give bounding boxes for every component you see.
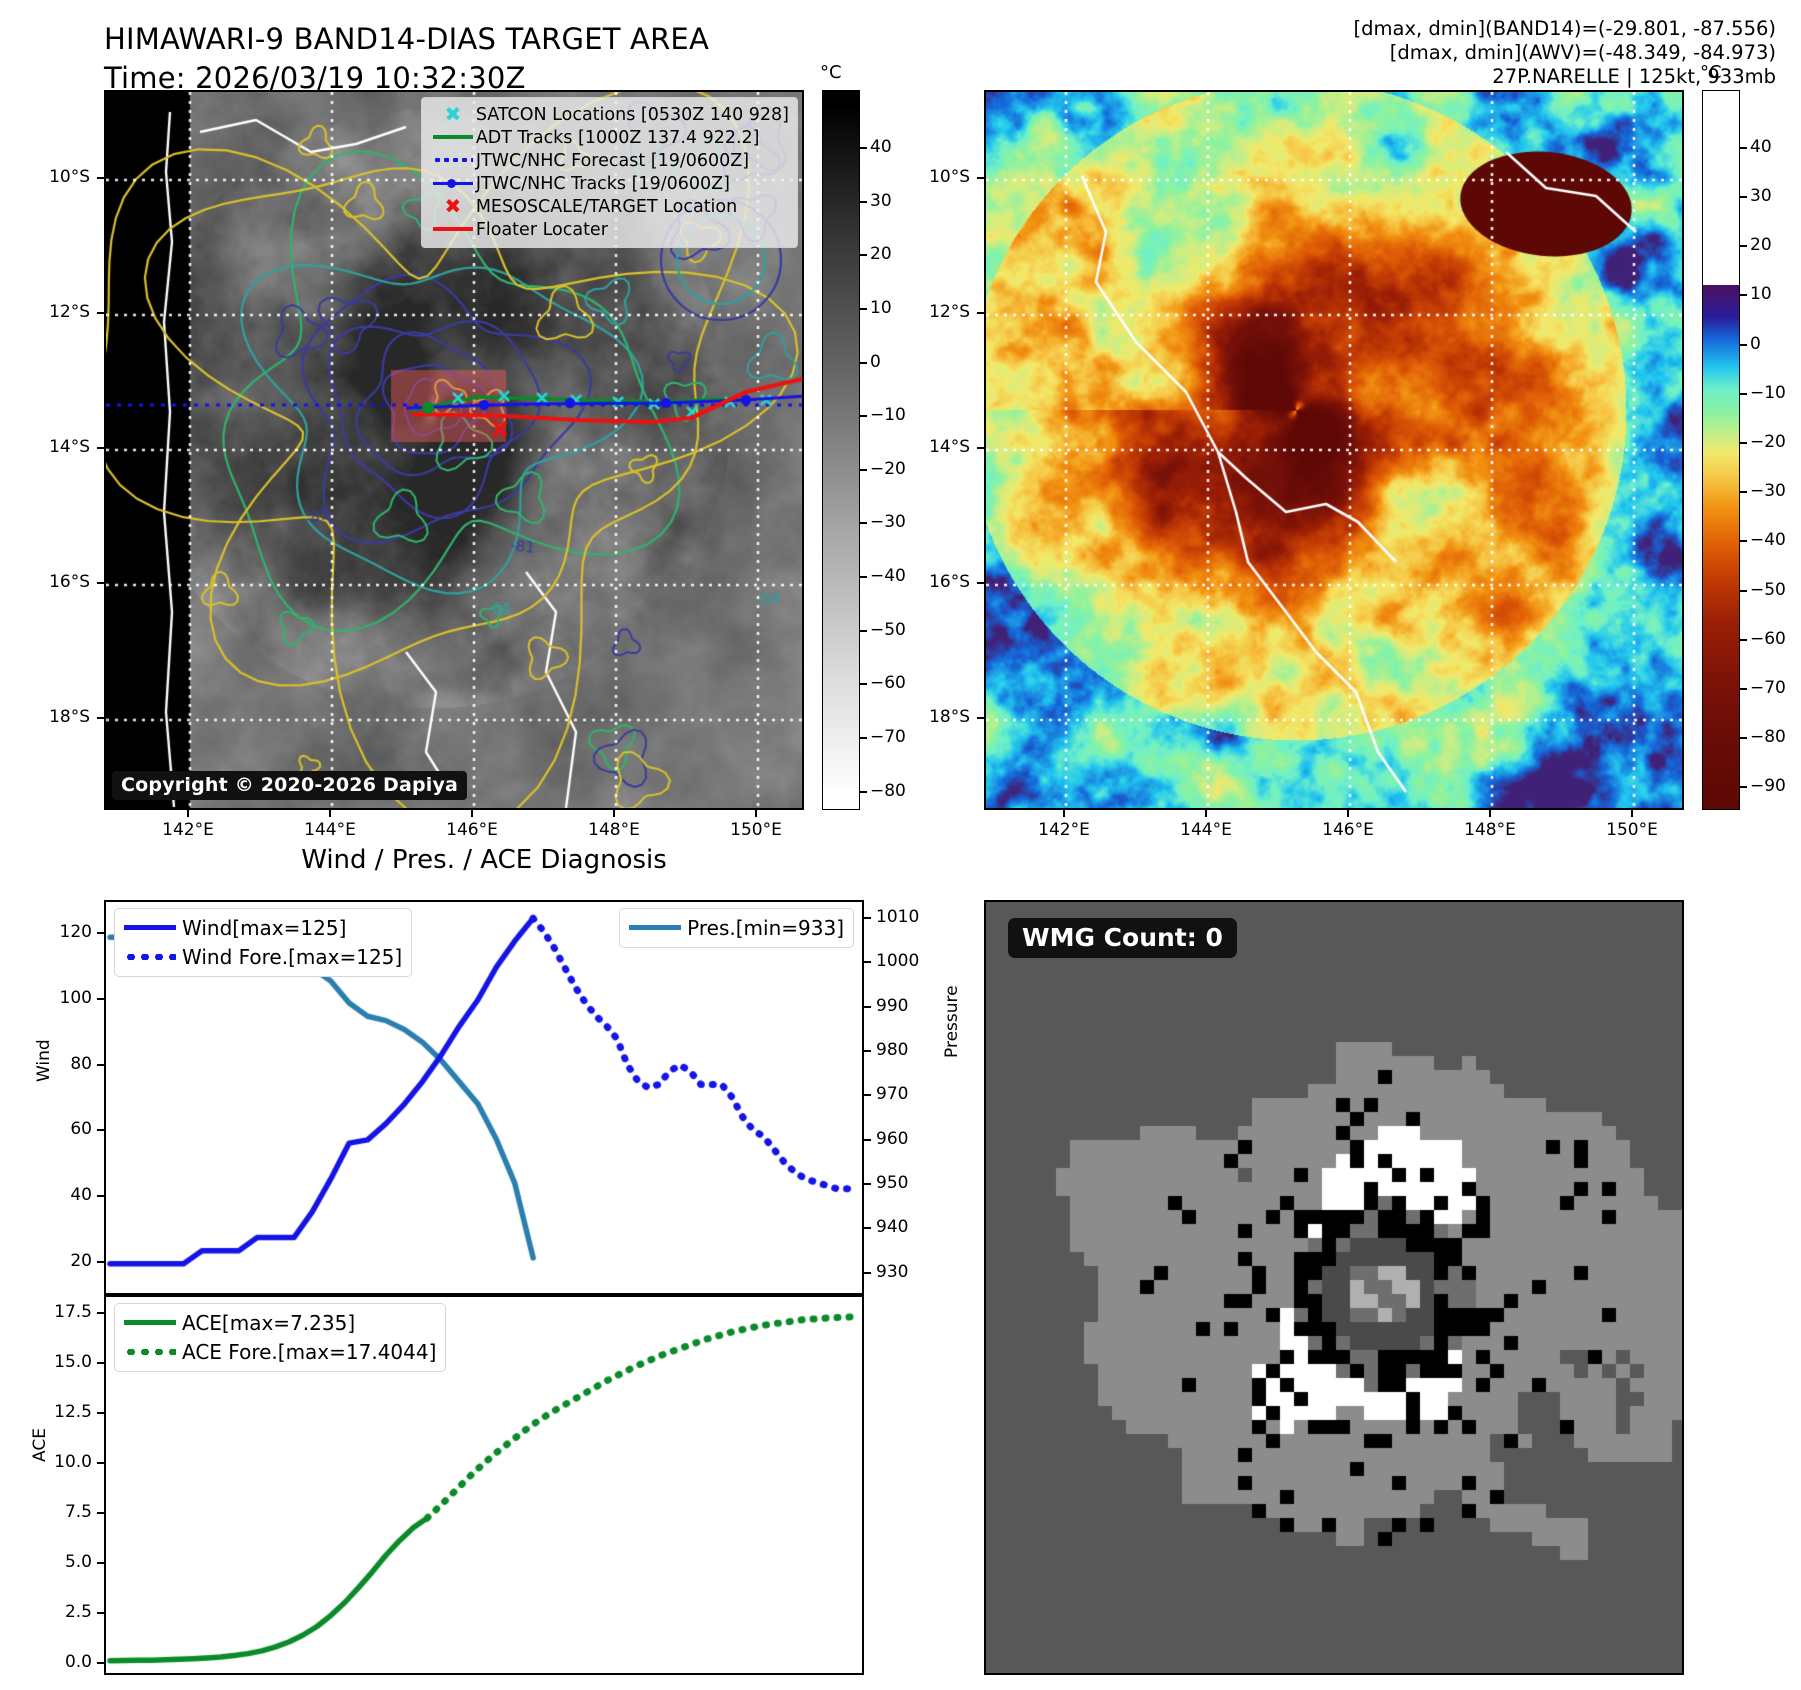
awv-enhanced-map[interactable] (984, 90, 1684, 810)
colorbar-tick-mark (1740, 294, 1747, 296)
wind-tick-label: 120 (60, 922, 92, 942)
wind-tick-label: 40 (70, 1185, 92, 1205)
legend-label: JTWC/NHC Forecast [19/0600Z] (476, 151, 749, 171)
lon-tick-mark (329, 810, 331, 817)
colorbar-tick-label: 30 (870, 191, 892, 211)
ace-tick-label: 12.5 (54, 1402, 92, 1422)
colorbar-tick-label: −20 (870, 459, 906, 479)
lon-tick-label: 148°E (588, 820, 640, 840)
lon-tick-label: 144°E (304, 820, 356, 840)
colorbar-tick-mark (1740, 639, 1747, 641)
colorbar-tick-mark (1740, 442, 1747, 444)
lon-tick-label: 144°E (1180, 820, 1232, 840)
lat-tick-label: 12°S (49, 302, 90, 322)
legend-item-satcon[interactable]: ✖ SATCON Locations [0530Z 140 928] (430, 103, 789, 126)
colorbar-tick-mark (860, 576, 867, 578)
legend-item-jtwc-tracks[interactable]: JTWC/NHC Tracks [19/0600Z] (430, 172, 789, 195)
colorbar-tick-mark (1740, 393, 1747, 395)
colorbar-tick-mark (860, 522, 867, 524)
colorbar-tick-mark (860, 308, 867, 310)
wind-tick-mark (97, 1129, 104, 1131)
lat-tick-label: 10°S (49, 167, 90, 187)
legend-label: Floater Locater (476, 220, 608, 240)
colorbar-tick-label: −80 (1750, 727, 1786, 747)
map-legend: ✖ SATCON Locations [0530Z 140 928] ADT T… (421, 97, 798, 248)
lat-tick-label: 18°S (49, 707, 90, 727)
dotted-line-icon (124, 1349, 182, 1355)
colorbar-tick-label: −60 (1750, 629, 1786, 649)
dotted-line-icon (430, 152, 476, 169)
colorbar-tick-mark (860, 683, 867, 685)
solid-line-icon (629, 925, 687, 931)
ace-legend: ACE[max=7.235] ACE Fore.[max=17.4044] (114, 1303, 446, 1372)
title-line: HIMAWARI-9 BAND14-DIAS TARGET AREA (104, 20, 904, 59)
page-title: HIMAWARI-9 BAND14-DIAS TARGET AREA Time:… (104, 20, 904, 98)
lon-tick-mark (1063, 810, 1065, 817)
colorbar-tick-label: −70 (1750, 678, 1786, 698)
colorbar-tick-label: −10 (870, 405, 906, 425)
ace-tick-mark (97, 1362, 104, 1364)
ace-tick-mark (97, 1312, 104, 1314)
pressure-tick-mark (864, 1006, 871, 1008)
pressure-tick-mark (864, 1094, 871, 1096)
x-marker-icon: ✖ (430, 196, 476, 217)
awv-colorbar (1702, 90, 1740, 810)
lat-tick-label: 14°S (929, 437, 970, 457)
colorbar-tick-label: 30 (1750, 186, 1772, 206)
wmg-count-badge: WMG Count: 0 (1008, 918, 1237, 958)
lon-tick-label: 150°E (730, 820, 782, 840)
awv-satellite-image (986, 92, 1682, 808)
colorbar-tick-mark (860, 362, 867, 364)
pressure-tick-label: 960 (876, 1129, 908, 1149)
ace-tick-label: 15.0 (54, 1352, 92, 1372)
legend-label: Wind Fore.[max=125] (182, 945, 402, 969)
lat-tick-label: 16°S (929, 572, 970, 592)
ace-tick-label: 17.5 (54, 1302, 92, 1322)
ace-tick-label: 10.0 (54, 1452, 92, 1472)
colorbar-tick-mark (1740, 737, 1747, 739)
colorbar-tick-label: −30 (870, 512, 906, 532)
chart-title: Wind / Pres. / ACE Diagnosis (104, 845, 864, 875)
ir-colorbar (822, 90, 860, 810)
awv-colorbar-unit: °C (1700, 62, 1722, 83)
pressure-axis-title: Pressure (942, 985, 962, 1058)
colorbar-tick-label: −10 (1750, 383, 1786, 403)
wmg-image (986, 902, 1682, 1673)
lon-tick-mark (1631, 810, 1633, 817)
lon-tick-label: 142°E (1038, 820, 1090, 840)
legend-label: Wind[max=125] (182, 916, 346, 940)
pressure-tick-mark (864, 1050, 871, 1052)
pressure-legend: Pres.[min=933] (619, 908, 854, 948)
colorbar-tick-label: 40 (1750, 137, 1772, 157)
lon-tick-label: 142°E (162, 820, 214, 840)
ace-tick-label: 2.5 (65, 1602, 92, 1622)
colorbar-tick-mark (860, 469, 867, 471)
colorbar-tick-mark (1740, 245, 1747, 247)
lat-tick-mark (97, 582, 104, 584)
ace-tick-mark (97, 1512, 104, 1514)
pressure-tick-label: 990 (876, 996, 908, 1016)
x-marker-icon: ✖ (430, 104, 476, 125)
ace-tick-mark (97, 1562, 104, 1564)
lon-tick-mark (613, 810, 615, 817)
pressure-tick-label: 930 (876, 1262, 908, 1282)
wind-tick-label: 60 (70, 1119, 92, 1139)
copyright-badge: Copyright © 2020-2026 Dapiya (112, 771, 467, 800)
colorbar-tick-mark (1740, 491, 1747, 493)
colorbar-tick-mark (860, 630, 867, 632)
colorbar-tick-label: −40 (870, 566, 906, 586)
lon-tick-mark (471, 810, 473, 817)
colorbar-tick-mark (860, 791, 867, 793)
colorbar-tick-label: −20 (1750, 432, 1786, 452)
colorbar-tick-label: −70 (870, 727, 906, 747)
solid-line-icon (430, 221, 476, 238)
pressure-tick-label: 970 (876, 1084, 908, 1104)
pressure-tick-mark (864, 961, 871, 963)
ir-colorbar-unit: °C (820, 62, 842, 83)
colorbar-tick-label: −90 (1750, 776, 1786, 796)
ace-tick-mark (97, 1462, 104, 1464)
pressure-tick-label: 1010 (876, 907, 919, 927)
ace-tick-label: 7.5 (65, 1502, 92, 1522)
ace-tick-label: 5.0 (65, 1552, 92, 1572)
solid-line-icon (124, 925, 182, 931)
lon-tick-mark (187, 810, 189, 817)
lat-tick-mark (977, 717, 984, 719)
lon-tick-mark (1205, 810, 1207, 817)
colorbar-tick-label: −60 (870, 673, 906, 693)
legend-item-floater[interactable]: Floater Locater (430, 218, 789, 241)
ace-tick-mark (97, 1612, 104, 1614)
colorbar-tick-label: −80 (870, 781, 906, 801)
wind-tick-label: 80 (70, 1054, 92, 1074)
ace-tick-label: 0.0 (65, 1652, 92, 1672)
wind-tick-mark (97, 1195, 104, 1197)
wind-tick-mark (97, 932, 104, 934)
solid-line-icon (124, 1320, 182, 1326)
colorbar-tick-label: 0 (1750, 334, 1761, 354)
colorbar-tick-label: 10 (1750, 284, 1772, 304)
colorbar-tick-mark (1740, 344, 1747, 346)
legend-label: JTWC/NHC Tracks [19/0600Z] (476, 174, 730, 194)
colorbar-tick-mark (1740, 540, 1747, 542)
wind-tick-mark (97, 1261, 104, 1263)
colorbar-tick-label: −50 (1750, 580, 1786, 600)
colorbar-tick-mark (1740, 196, 1747, 198)
lon-tick-label: 148°E (1464, 820, 1516, 840)
lat-tick-label: 14°S (49, 437, 90, 457)
pressure-tick-label: 1000 (876, 951, 919, 971)
lat-tick-mark (97, 312, 104, 314)
legend-label: MESOSCALE/TARGET Location (476, 197, 737, 217)
ace-tick-mark (97, 1662, 104, 1664)
colorbar-tick-label: 40 (870, 137, 892, 157)
colorbar-tick-label: 20 (1750, 235, 1772, 255)
colorbar-tick-mark (1740, 147, 1747, 149)
lat-tick-mark (977, 582, 984, 584)
pressure-tick-mark (864, 917, 871, 919)
colorbar-tick-mark (860, 201, 867, 203)
wind-tick-mark (97, 1064, 104, 1066)
lat-tick-label: 12°S (929, 302, 970, 322)
legend-label: Pres.[min=933] (687, 916, 844, 940)
legend-item-jtwc-forecast[interactable]: JTWC/NHC Forecast [19/0600Z] (430, 149, 789, 172)
legend-item-wind-forecast[interactable]: Wind Fore.[max=125] (124, 942, 402, 971)
lon-tick-mark (1489, 810, 1491, 817)
dotted-line-icon (124, 954, 182, 960)
colorbar-tick-mark (860, 147, 867, 149)
colorbar-tick-mark (860, 415, 867, 417)
lat-tick-mark (97, 177, 104, 179)
legend-item-mesoscale[interactable]: ✖ MESOSCALE/TARGET Location (430, 195, 789, 218)
lat-tick-mark (977, 312, 984, 314)
colorbar-tick-mark (1740, 590, 1747, 592)
wind-legend: Wind[max=125] Wind Fore.[max=125] (114, 908, 412, 977)
legend-label: ACE Fore.[max=17.4044] (182, 1340, 436, 1364)
lat-tick-label: 16°S (49, 572, 90, 592)
lon-tick-label: 146°E (446, 820, 498, 840)
legend-label: SATCON Locations [0530Z 140 928] (476, 105, 789, 125)
ace-axis-title: ACE (30, 1428, 50, 1462)
lon-tick-label: 150°E (1606, 820, 1658, 840)
pressure-tick-mark (864, 1139, 871, 1141)
legend-item-adt[interactable]: ADT Tracks [1000Z 137.4 922.2] (430, 126, 789, 149)
legend-item-ace[interactable]: ACE[max=7.235] (124, 1308, 436, 1337)
colorbar-tick-mark (1740, 786, 1747, 788)
pressure-tick-label: 950 (876, 1173, 908, 1193)
wind-tick-mark (97, 998, 104, 1000)
legend-label: ACE[max=7.235] (182, 1311, 355, 1335)
solid-line-icon (430, 129, 476, 146)
colorbar-tick-label: 0 (870, 352, 881, 372)
wmg-cloud-cluster-map[interactable]: WMG Count: 0 (984, 900, 1684, 1675)
lat-tick-label: 10°S (929, 167, 970, 187)
line-marker-icon (430, 175, 476, 192)
colorbar-tick-mark (860, 737, 867, 739)
ace-chart[interactable]: ACE[max=7.235] ACE Fore.[max=17.4044] (104, 1295, 864, 1675)
wind-axis-title: Wind (34, 1039, 54, 1082)
lat-tick-label: 18°S (929, 707, 970, 727)
legend-item-ace-forecast[interactable]: ACE Fore.[max=17.4044] (124, 1337, 436, 1366)
lat-tick-mark (97, 447, 104, 449)
pressure-tick-mark (864, 1183, 871, 1185)
colorbar-tick-label: −30 (1750, 481, 1786, 501)
lat-tick-mark (977, 447, 984, 449)
lon-tick-mark (755, 810, 757, 817)
wind-pressure-chart[interactable]: Wind[max=125] Wind Fore.[max=125] Pres.[… (104, 900, 864, 1295)
colorbar-tick-mark (860, 254, 867, 256)
meta-band14: [dmax, dmin](BAND14)=(-29.801, -87.556) (1354, 17, 1776, 41)
lat-tick-mark (97, 717, 104, 719)
wind-tick-label: 100 (60, 988, 92, 1008)
lon-tick-mark (1347, 810, 1349, 817)
legend-label: ADT Tracks [1000Z 137.4 922.2] (476, 128, 760, 148)
ir-target-area-map[interactable]: ✖ SATCON Locations [0530Z 140 928] ADT T… (104, 90, 804, 810)
legend-item-wind[interactable]: Wind[max=125] (124, 913, 402, 942)
wind-tick-label: 20 (70, 1251, 92, 1271)
colorbar-tick-label: −40 (1750, 530, 1786, 550)
pressure-tick-label: 940 (876, 1217, 908, 1237)
lon-tick-label: 146°E (1322, 820, 1374, 840)
colorbar-tick-label: 20 (870, 244, 892, 264)
pressure-tick-label: 980 (876, 1040, 908, 1060)
colorbar-tick-label: 10 (870, 298, 892, 318)
colorbar-tick-label: −50 (870, 620, 906, 640)
colorbar-tick-mark (1740, 688, 1747, 690)
lat-tick-mark (977, 177, 984, 179)
legend-item-pressure[interactable]: Pres.[min=933] (629, 913, 844, 942)
pressure-tick-mark (864, 1227, 871, 1229)
ace-tick-mark (97, 1412, 104, 1414)
pressure-tick-mark (864, 1272, 871, 1274)
